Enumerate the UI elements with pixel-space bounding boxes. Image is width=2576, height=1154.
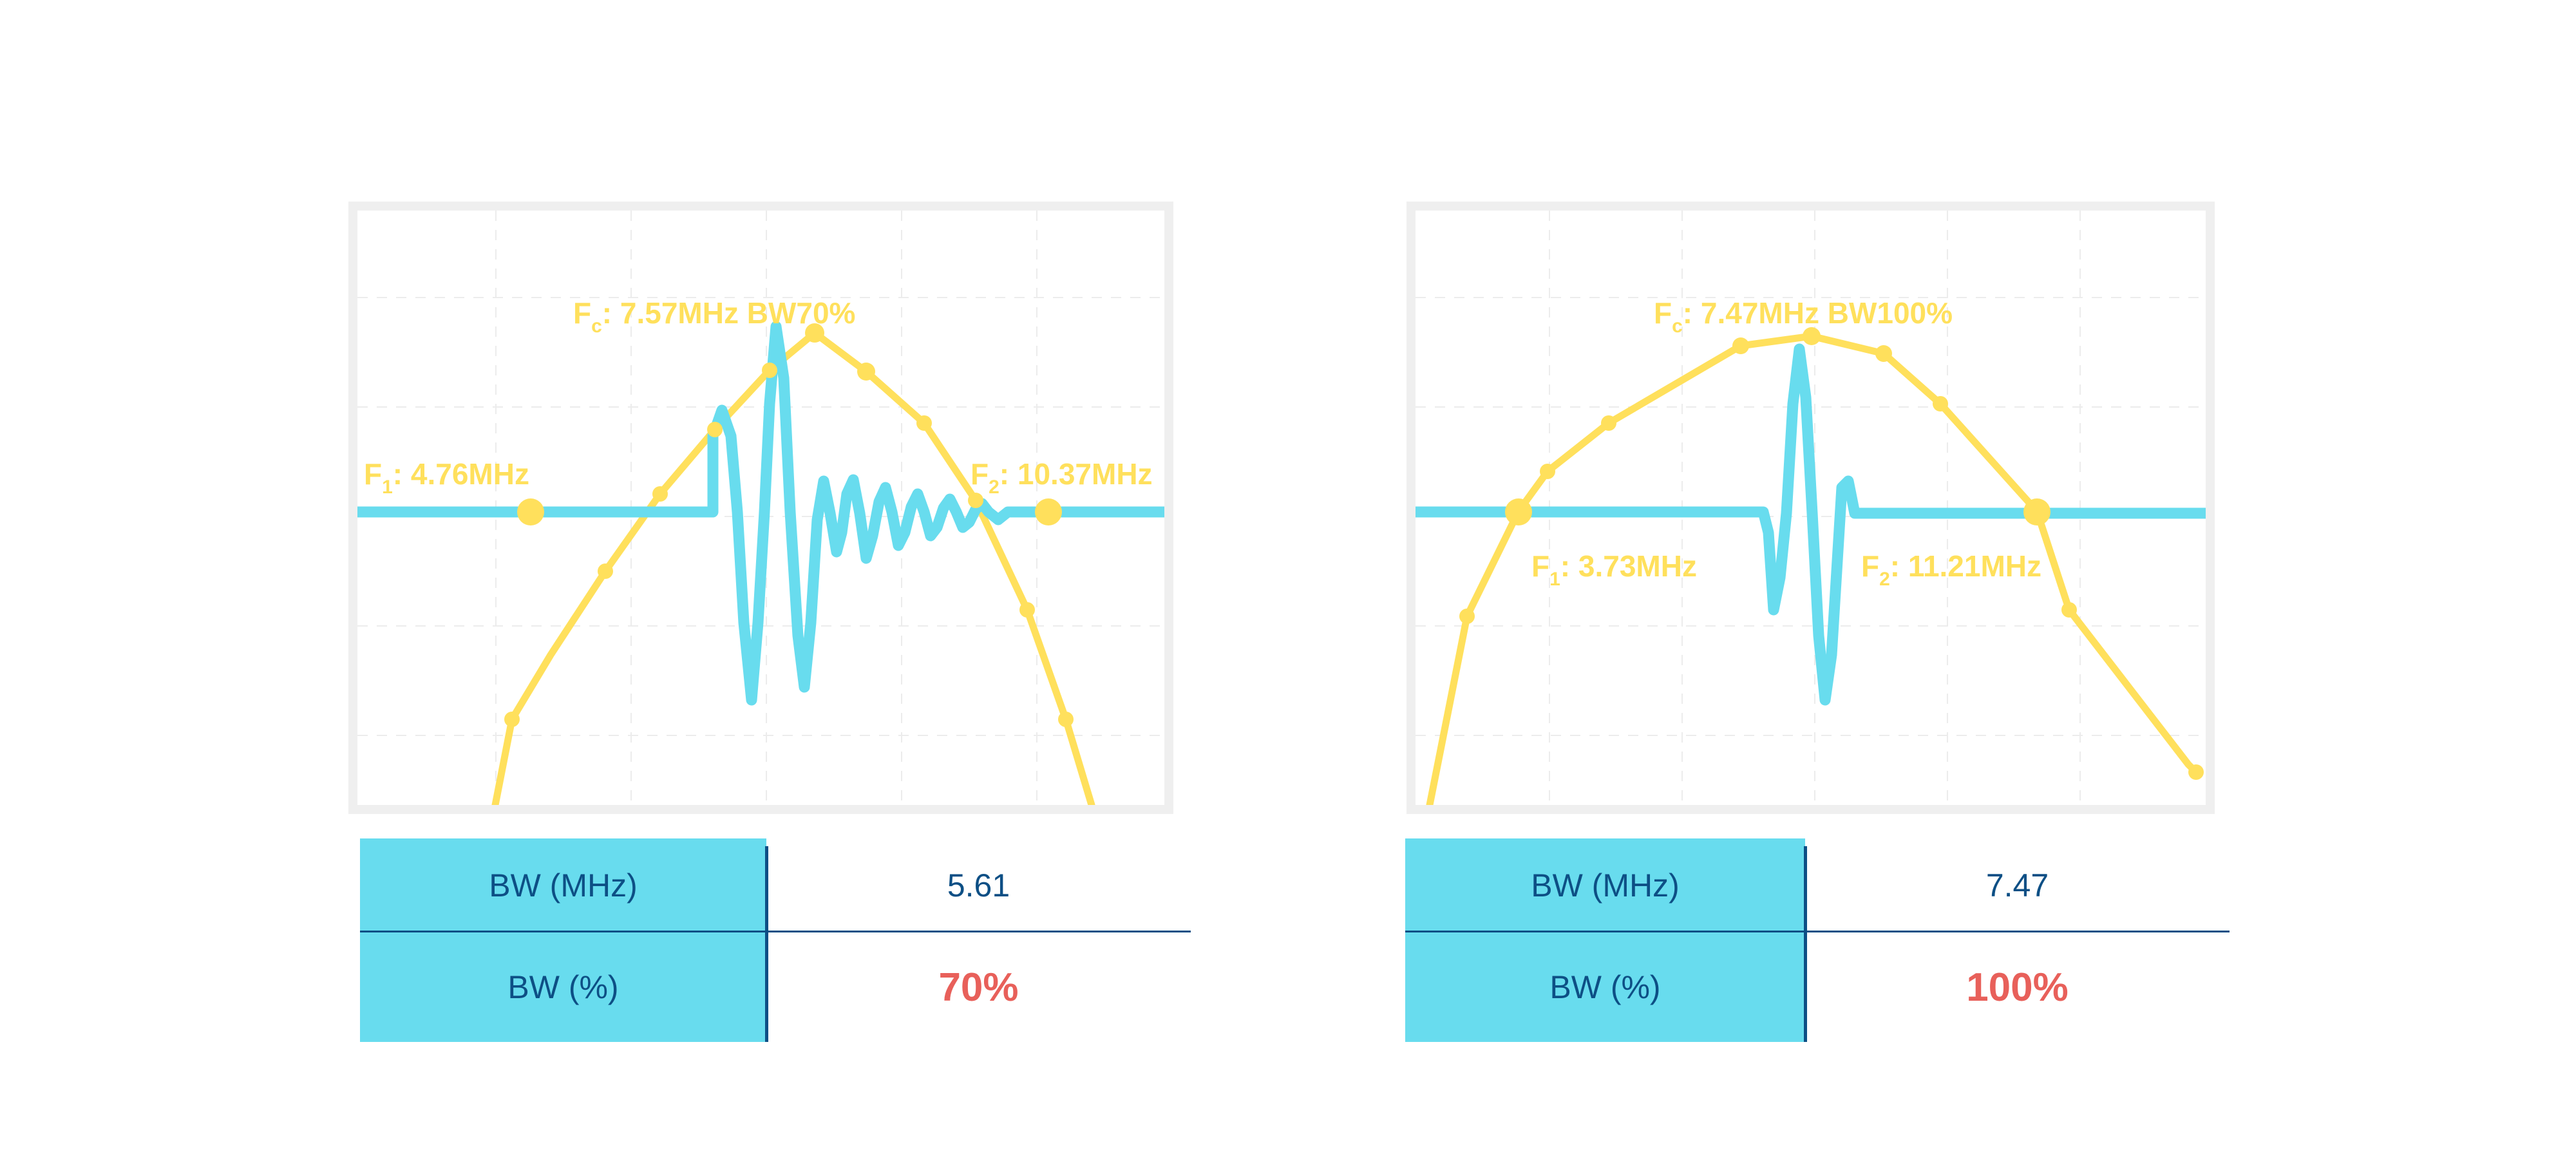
- row-value-bw-pct-left: 70%: [766, 932, 1191, 1042]
- fc-label-right-text: : 7.47MHz BW100%: [1683, 296, 1953, 330]
- spectrum-chart-left: Fc: 7.57MHz BW70% F1: 4.76MHz F2: 10.37M…: [357, 211, 1164, 805]
- f2-label-right-sub: 2: [1879, 569, 1890, 590]
- chart-frame-right: Fc: 7.47MHz BW100% F1: 3.73MHz F2: 11.21…: [1406, 202, 2215, 814]
- f2-marker-right: [2023, 498, 2050, 525]
- row-label-bw-pct-left: BW (%): [360, 932, 766, 1042]
- f1-label-left-sub: 1: [382, 477, 393, 498]
- f2-label-right-prefix: F: [1861, 549, 1879, 583]
- fc-label-left-prefix: F: [573, 296, 591, 330]
- pulse-waveform-right: [1416, 349, 2206, 700]
- table-column-divider-right: [1804, 846, 1807, 1042]
- fc-label-right: Fc: 7.47MHz BW100%: [1654, 296, 1953, 337]
- panel-right: Fc: 7.47MHz BW100% F1: 3.73MHz F2: 11.21…: [1288, 0, 2576, 1154]
- fc-label-right-prefix: F: [1654, 296, 1672, 330]
- f2-label-left-prefix: F: [971, 457, 989, 491]
- row-value-bw-mhz-right: 7.47: [1805, 838, 2230, 932]
- f1-label-right: F1: 3.73MHz: [1531, 549, 1697, 590]
- table-row-bw-pct-left: BW (%) 70%: [360, 932, 1191, 1042]
- f2-label-right: F2: 11.21MHz: [1861, 549, 2041, 590]
- f1-label-left-prefix: F: [364, 457, 382, 491]
- chart-frame-left: Fc: 7.57MHz BW70% F1: 4.76MHz F2: 10.37M…: [348, 202, 1173, 814]
- f1-marker-right: [1505, 498, 1532, 525]
- spectrum-chart-right: Fc: 7.47MHz BW100% F1: 3.73MHz F2: 11.21…: [1416, 211, 2206, 805]
- fc-label-left-text: : 7.57MHz BW70%: [602, 296, 856, 330]
- fc-label-left-sub: c: [591, 316, 602, 337]
- row-value-bw-mhz-left: 5.61: [766, 838, 1191, 932]
- table-column-divider-left: [765, 846, 768, 1042]
- fc-label-right-sub: c: [1672, 316, 1683, 337]
- f2-label-left-sub: 2: [989, 477, 999, 498]
- f2-marker-left: [1035, 498, 1062, 525]
- row-value-bw-pct-right: 100%: [1805, 932, 2230, 1042]
- f1-label-right-sub: 1: [1549, 569, 1560, 590]
- f1-label-left: F1: 4.76MHz: [364, 457, 529, 498]
- f2-label-left: F2: 10.37MHz: [971, 457, 1153, 498]
- row-label-bw-mhz-right: BW (MHz): [1405, 838, 1805, 932]
- f2-label-right-text: : 11.21MHz: [1890, 549, 2041, 583]
- row-label-bw-mhz-left: BW (MHz): [360, 838, 766, 932]
- f1-marker-left: [517, 498, 544, 525]
- bw-table-right: BW (MHz) 7.47 BW (%) 100%: [1405, 838, 2230, 1042]
- bw-table-left: BW (MHz) 5.61 BW (%) 70%: [360, 838, 1191, 1042]
- panel-left: Fc: 7.57MHz BW70% F1: 4.76MHz F2: 10.37M…: [0, 0, 1288, 1154]
- table-row-bw-mhz-left: BW (MHz) 5.61: [360, 838, 1191, 932]
- f1-label-right-prefix: F: [1531, 549, 1549, 583]
- table-row-bw-mhz-right: BW (MHz) 7.47: [1405, 838, 2230, 932]
- table-row-bw-pct-right: BW (%) 100%: [1405, 932, 2230, 1042]
- f1-label-right-text: : 3.73MHz: [1560, 549, 1697, 583]
- f1-label-left-text: : 4.76MHz: [393, 457, 529, 491]
- row-label-bw-pct-right: BW (%): [1405, 932, 1805, 1042]
- f2-label-left-text: : 10.37MHz: [999, 457, 1153, 491]
